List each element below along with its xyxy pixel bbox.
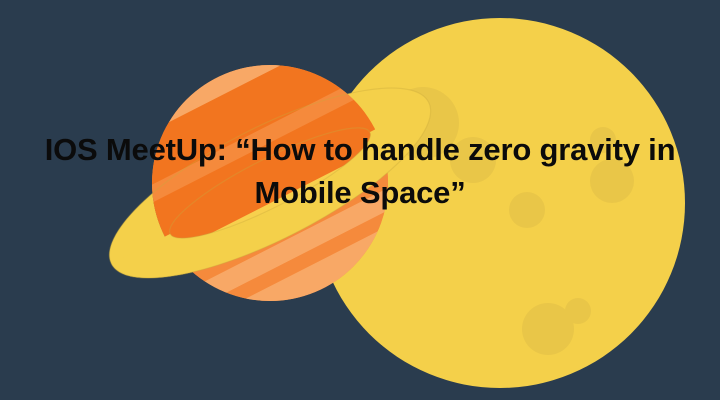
page-title: IOS MeetUp: “How to handle zero gravity … <box>0 128 720 214</box>
moon-crater <box>565 298 591 324</box>
space-meetup-poster: IOS MeetUp: “How to handle zero gravity … <box>0 0 720 400</box>
